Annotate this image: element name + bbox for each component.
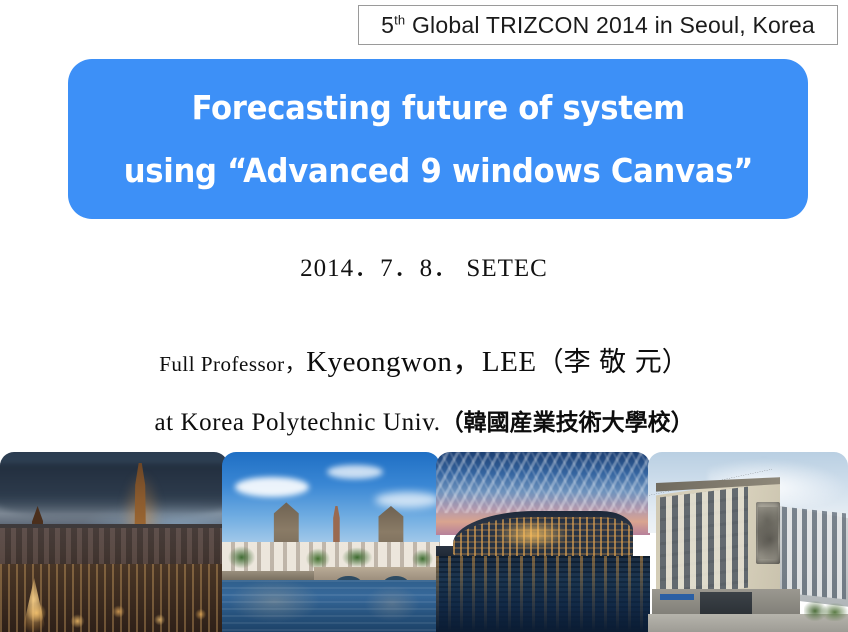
title-line-1: Forecasting future of system [191,91,684,124]
cloud-right [375,492,440,508]
author-name: Kyeongwon，LEE [306,346,536,378]
facade-window-grid [660,486,748,598]
title-line-2: using “Advanced 9 windows Canvas” [123,154,752,187]
light-reflections [436,556,650,632]
stone-relief-sculpture [756,502,780,563]
presentation-title-box: Forecasting future of system using “Adva… [68,59,808,219]
roof-texture [0,528,228,568]
entrance-sign [660,594,694,600]
photo-strasbourg-cathedral-night [0,452,228,632]
affiliation-english: at Korea Polytechnic Univ. [154,409,440,436]
mackerel-clouds [436,452,650,513]
conference-banner: 5th Global TRIZCON 2014 in Seoul, Korea [358,5,838,45]
affiliation-cjk: （韓國産業技術大學校） [441,409,694,436]
author-name-cjk: （李 敬 元） [537,347,689,378]
photo-strip [0,452,848,632]
conference-banner-text: 5th Global TRIZCON 2014 in Seoul, Korea [381,12,815,39]
building-wing-windows [782,506,846,599]
banner-ordinal: 5 [381,12,394,38]
riverside-trees [222,535,440,571]
cloud-center [327,465,384,479]
banner-ordinal-suffix: th [394,12,405,27]
cloud-left [235,477,309,497]
photo-campus-building-relief [648,452,848,632]
date-venue-line: 2014．7．8． SETEC [0,248,848,284]
affiliation-line: at Korea Polytechnic Univ.（韓國産業技術大學校） [0,403,848,437]
shrubbery [804,596,848,621]
atrium-glow [496,520,569,549]
photo-european-parliament-dusk [436,452,650,632]
banner-rest: Global TRIZCON 2014 in Seoul, Korea [405,12,814,38]
author-role: Full Professor， [159,352,306,376]
water-reflection [222,580,440,632]
photo-petite-france-bridges [222,452,440,632]
author-line: Full Professor，Kyeongwon，LEE（李 敬 元） [0,338,848,380]
storm-cloud [0,463,228,521]
